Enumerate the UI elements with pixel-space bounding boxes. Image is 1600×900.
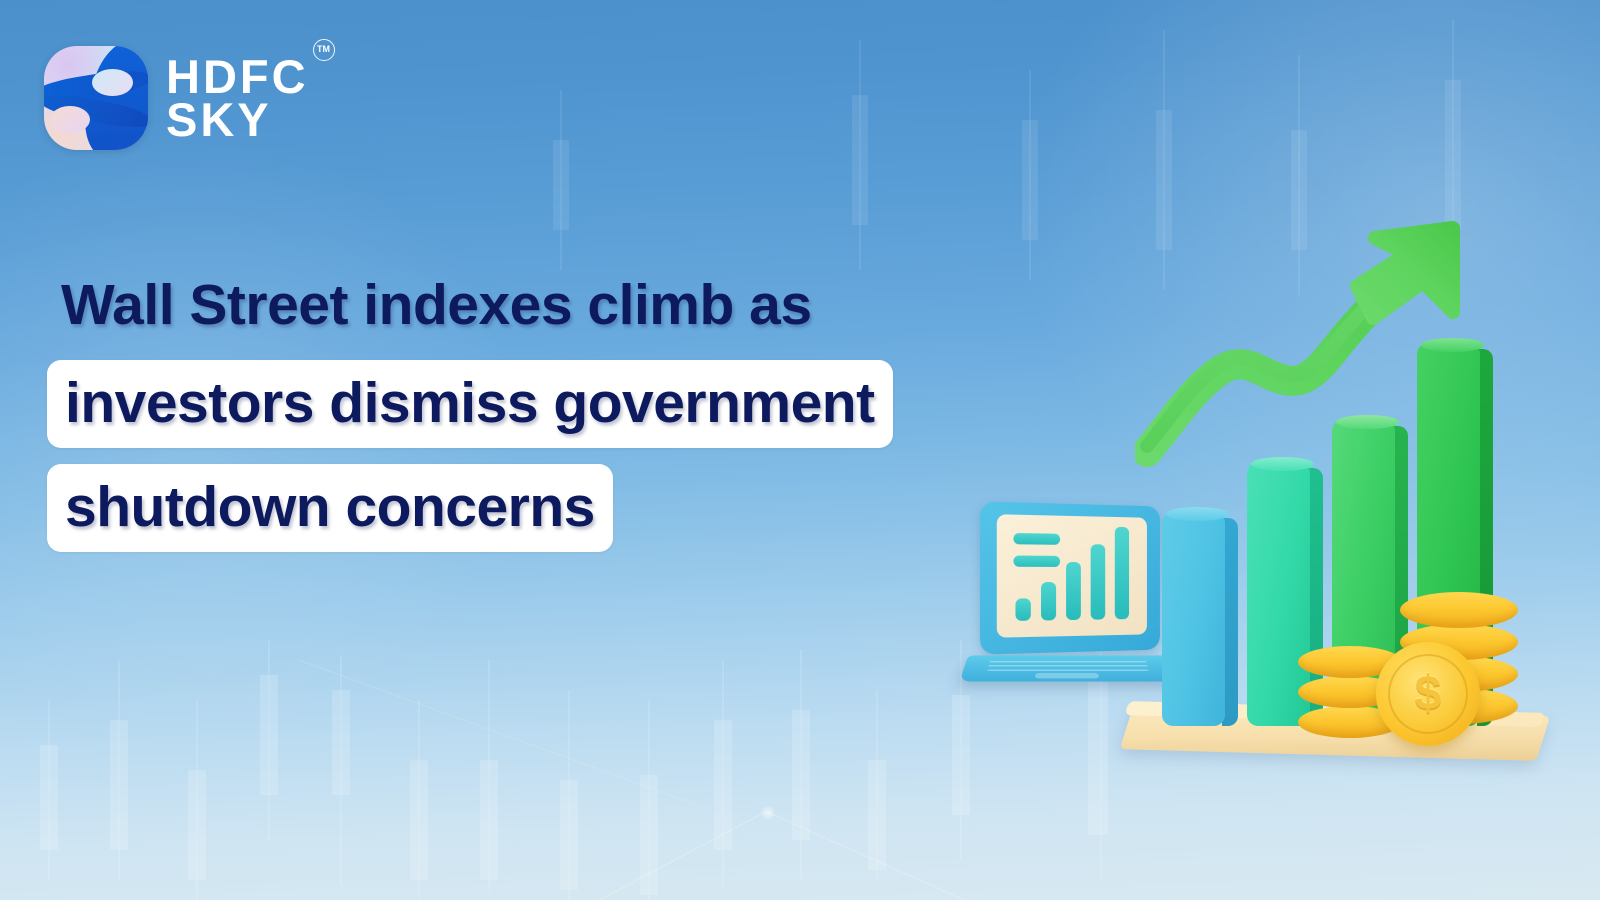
headline-line-1: Wall Street indexes climb as <box>47 268 1007 342</box>
chart-bar-1 <box>1162 512 1225 726</box>
headline-line-2: investors dismiss government <box>47 360 893 448</box>
dollar-coin-icon: $ <box>1376 642 1480 746</box>
laptop-icon <box>960 500 1175 715</box>
dollar-coins-group: $ <box>1280 570 1555 770</box>
dollar-sign: $ <box>1388 654 1468 734</box>
growth-chart-illustration: $ <box>940 215 1560 815</box>
brand-name-bottom: SKY <box>166 98 309 141</box>
brand-name-top: HDFC TM <box>166 55 309 98</box>
poster-canvas: HDFC TM SKY Wall Street indexes climb as… <box>0 0 1600 900</box>
hdfc-sky-swoosh-logo-icon <box>44 46 148 150</box>
brand-wordmark: HDFC TM SKY <box>166 55 309 141</box>
laptop-lid <box>980 501 1160 654</box>
laptop-keyboard <box>959 656 1176 682</box>
brand-logo[interactable]: HDFC TM SKY <box>44 46 309 150</box>
trademark-icon: TM <box>313 39 335 61</box>
headline-line-3: shutdown concerns <box>47 464 613 552</box>
brand-name-top-text: HDFC <box>166 50 309 103</box>
laptop-screen <box>997 514 1147 637</box>
headline-block: Wall Street indexes climb as investors d… <box>47 268 1007 552</box>
